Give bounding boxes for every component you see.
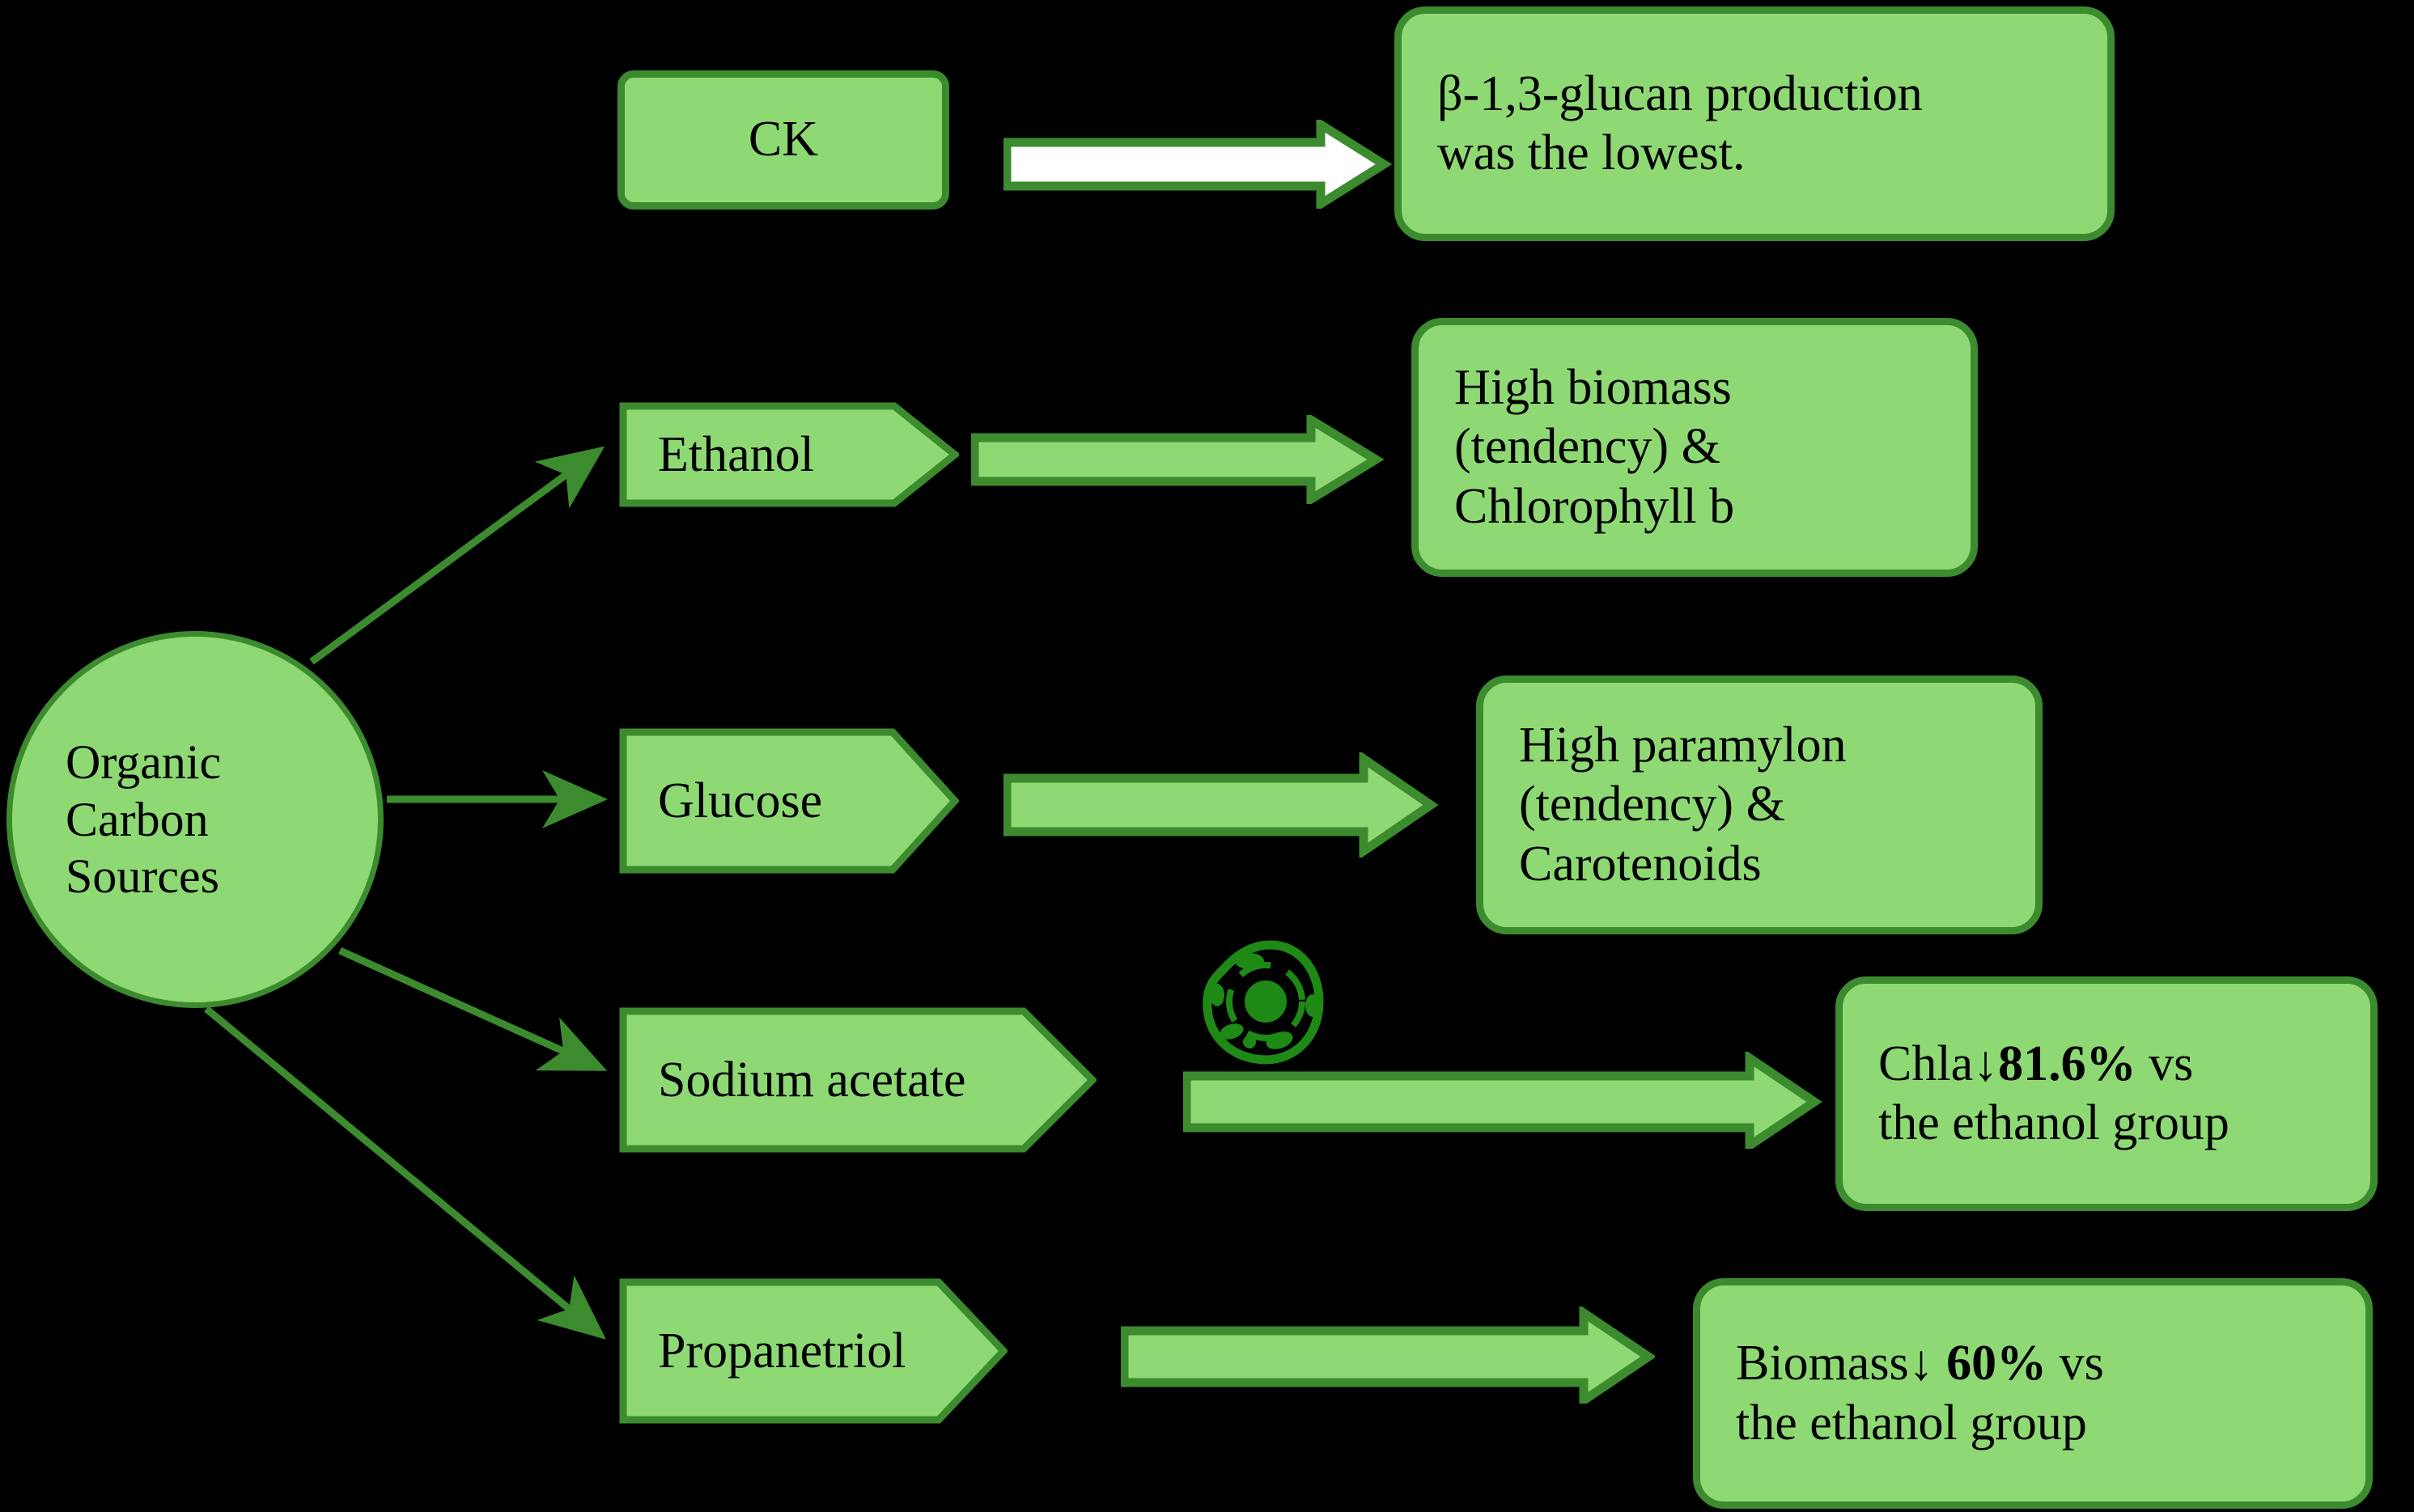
result-pt-pre: Biomass↓: [1736, 1336, 1946, 1391]
result-glucose-line2: (tendency) &: [1519, 775, 1847, 834]
result-label-ck: β-1,3-glucan production was the lowest.: [1437, 65, 1923, 183]
diagram-canvas: Organic Carbon Sources CK β-1,3-glucan p…: [0, 0, 2414, 1512]
source-node-propanetriol[interactable]: Propanetriol: [619, 1278, 1008, 1424]
result-ethanol-line2: (tendency) &: [1454, 417, 1734, 476]
source-node-ethanol[interactable]: Ethanol: [619, 402, 959, 507]
result-ck-line1: β-1,3-glucan production: [1437, 65, 1923, 124]
block-arrow-ck: [1003, 120, 1392, 209]
result-box-propanetriol[interactable]: Biomass↓ 60% vs the ethanol group: [1693, 1278, 2373, 1509]
connector-propanetriol: [206, 1009, 600, 1335]
result-sa-pre: Chla↓: [1878, 1036, 1998, 1091]
result-propanetriol-line1: Biomass↓ 60% vs: [1736, 1334, 2104, 1393]
result-propanetriol-line2: the ethanol group: [1736, 1394, 2104, 1453]
result-ck-line2: was the lowest.: [1437, 124, 1923, 183]
connector-ethanol: [312, 451, 599, 662]
result-box-ck[interactable]: β-1,3-glucan production was the lowest.: [1394, 6, 2115, 241]
result-pt-post: vs: [2047, 1336, 2104, 1391]
result-label-sodium-acetate: Chla↓81.6% vs the ethanol group: [1878, 1035, 2229, 1153]
source-label-ck: CK: [749, 110, 818, 169]
result-label-glucose: High paramylon (tendency) & Carotenoids: [1519, 716, 1847, 893]
source-label-sodium-acetate: Sodium acetate: [658, 1052, 965, 1109]
block-arrow-ethanol: [971, 415, 1384, 504]
source-label-propanetriol: Propanetriol: [658, 1323, 906, 1380]
source-label-glucose: Glucose: [658, 773, 822, 830]
result-sodium-acetate-line1: Chla↓81.6% vs: [1878, 1035, 2229, 1094]
connector-sodium-acetate: [340, 951, 600, 1068]
block-arrow-glucose: [1003, 752, 1440, 858]
result-label-propanetriol: Biomass↓ 60% vs the ethanol group: [1736, 1334, 2104, 1452]
result-glucose-line1: High paramylon: [1519, 716, 1847, 775]
result-sodium-acetate-line2: the ethanol group: [1878, 1094, 2229, 1153]
block-arrow-sodium-acetate: [1183, 1052, 1822, 1149]
block-arrow-propanetriol: [1121, 1307, 1655, 1404]
hub-label: Organic Carbon Sources: [66, 734, 221, 905]
result-pt-value: 60%: [1946, 1336, 2047, 1391]
result-ethanol-line1: High biomass: [1454, 358, 1734, 417]
source-node-ck[interactable]: CK: [617, 70, 949, 210]
source-node-sodium-acetate[interactable]: Sodium acetate: [619, 1007, 1097, 1153]
source-node-glucose[interactable]: Glucose: [619, 728, 959, 874]
source-label-ethanol: Ethanol: [658, 426, 814, 484]
hub-label-line1: Organic: [66, 734, 221, 791]
result-box-sodium-acetate[interactable]: Chla↓81.6% vs the ethanol group: [1835, 976, 2378, 1211]
result-sa-value: 81.6%: [1998, 1036, 2136, 1091]
result-sa-post: vs: [2136, 1036, 2194, 1091]
result-label-ethanol: High biomass (tendency) & Chlorophyll b: [1454, 358, 1734, 536]
result-box-glucose[interactable]: High paramylon (tendency) & Carotenoids: [1476, 676, 2043, 934]
hub-organic-carbon-sources[interactable]: Organic Carbon Sources: [6, 631, 384, 1008]
result-box-ethanol[interactable]: High biomass (tendency) & Chlorophyll b: [1411, 318, 1978, 577]
hub-label-line3: Sources: [66, 848, 221, 905]
result-glucose-line3: Carotenoids: [1519, 835, 1847, 894]
hub-label-line2: Carbon: [66, 791, 221, 849]
result-ethanol-line3: Chlorophyll b: [1454, 477, 1734, 536]
